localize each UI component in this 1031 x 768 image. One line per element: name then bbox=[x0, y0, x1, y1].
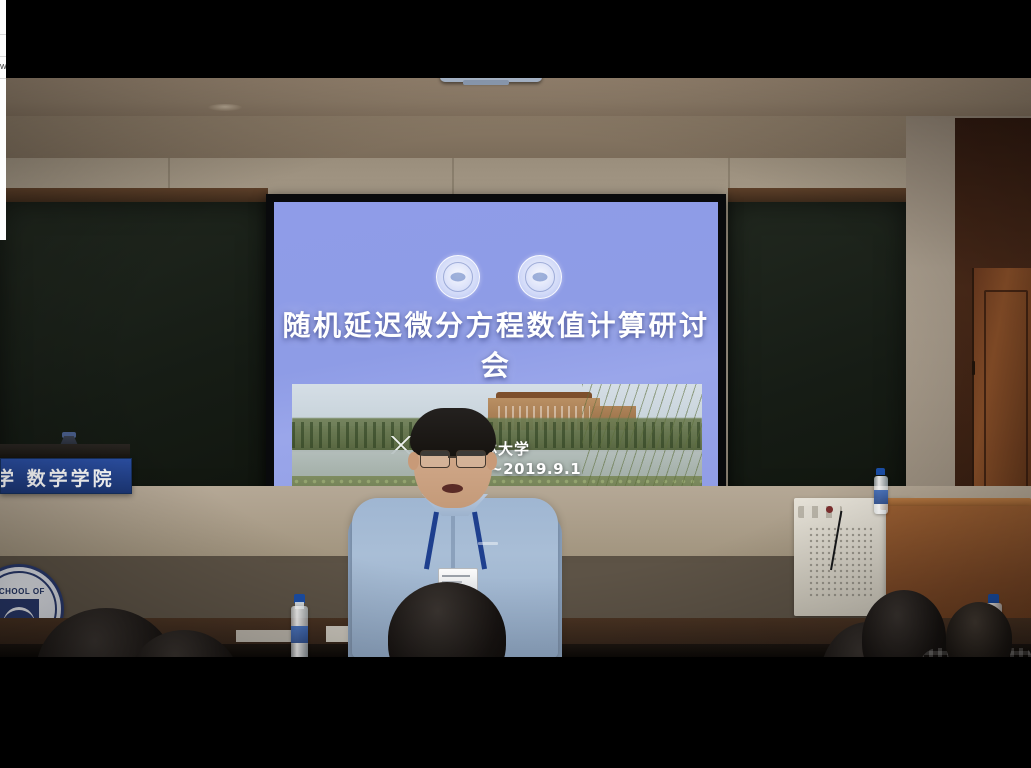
glasses-bridge-icon bbox=[448, 456, 457, 458]
seal-core-left bbox=[451, 273, 466, 282]
university-seal-right-icon bbox=[518, 255, 562, 299]
wood-valance-right bbox=[728, 188, 908, 202]
presenter-shirt-pocket bbox=[478, 542, 498, 545]
upper-wall-band bbox=[0, 116, 1031, 162]
bottle-cap-3 bbox=[876, 468, 885, 475]
blackboard-right bbox=[728, 202, 906, 502]
presenter-ear-right bbox=[486, 452, 497, 470]
presenter-ear-left bbox=[408, 452, 419, 470]
edge-divider-1 bbox=[0, 34, 6, 35]
podium-banner: 学 数学学院 bbox=[0, 458, 132, 494]
name-badge-line-1 bbox=[442, 575, 470, 577]
slide-photo-willow-branches bbox=[582, 384, 702, 494]
left-edge-app-panel[interactable]: W bbox=[0, 0, 6, 240]
letterbox-bottom-bar bbox=[0, 657, 1031, 768]
bottle-label-3 bbox=[874, 490, 888, 504]
edge-divider-3 bbox=[0, 78, 6, 79]
door-handle-icon[interactable] bbox=[972, 361, 975, 375]
bottle-label-1 bbox=[291, 626, 308, 643]
glasses-lens-right-icon bbox=[456, 450, 486, 468]
bottle-cap-4 bbox=[988, 594, 999, 603]
wood-valance-left bbox=[0, 188, 268, 202]
edge-divider-2 bbox=[0, 56, 6, 57]
microphone-head-icon bbox=[826, 506, 833, 513]
ceiling bbox=[0, 78, 1031, 120]
presenter-mouth bbox=[442, 484, 463, 493]
cabinet-controls[interactable] bbox=[798, 506, 842, 518]
door-panel-inset bbox=[984, 290, 1028, 494]
glasses-lens-left-icon bbox=[420, 450, 450, 468]
projector-lens-icon bbox=[463, 80, 509, 85]
letterbox-top-bar bbox=[0, 0, 1031, 78]
ceiling-light-icon bbox=[208, 104, 242, 111]
screenshot-stage: W bbox=[0, 0, 1031, 768]
seal-core-right bbox=[533, 273, 548, 282]
podium-banner-text: 学 数学学院 bbox=[0, 464, 132, 491]
emblem-text: SCHOOL OF bbox=[0, 587, 57, 596]
presenter-hair bbox=[410, 408, 496, 456]
edge-text-fragment-3: W bbox=[0, 64, 6, 71]
university-seal-left-icon bbox=[436, 255, 480, 299]
conference-photograph: 随机延迟微分方程数值计算研讨会 吉林大学 .31~2019.9.1 bbox=[0, 78, 1031, 657]
slide-title: 随机延迟微分方程数值计算研讨会 bbox=[274, 304, 718, 384]
papers-on-table-2 bbox=[236, 630, 296, 642]
speaker-grill-icon bbox=[808, 526, 872, 598]
